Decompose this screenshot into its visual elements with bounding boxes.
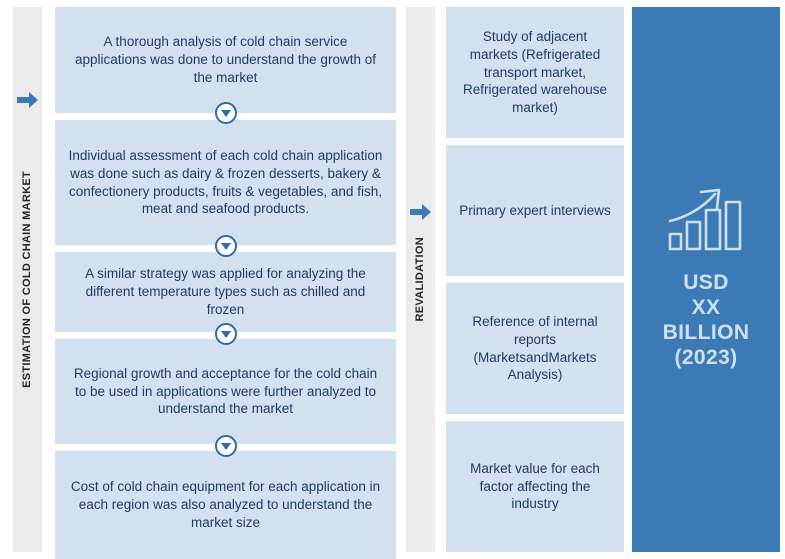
market-value-panel: USD XX BILLION (2023): [632, 7, 780, 552]
revalidation-item-text: Reference of internal reports (Marketsan…: [458, 313, 612, 384]
estimation-step-text: A similar strategy was applied for analy…: [67, 265, 384, 318]
chevron-down-icon: [215, 435, 237, 457]
estimation-step-box: Individual assessment of each cold chain…: [55, 120, 396, 245]
estimation-steps-column: A thorough analysis of cold chain servic…: [55, 7, 396, 552]
estimation-step-text: Regional growth and acceptance for the c…: [67, 365, 384, 418]
chevron-down-icon: [215, 235, 237, 257]
methodology-diagram: ESTIMATION OF COLD CHAIN MARKET A thorou…: [0, 0, 785, 559]
market-value-amount: XX: [692, 296, 721, 321]
revalidation-rail-label: REVALIDATION: [415, 237, 426, 321]
revalidation-item-box: Primary expert interviews: [446, 145, 624, 276]
revalidation-item-text: Study of adjacent markets (Refrigerated …: [458, 28, 612, 117]
market-value-currency: USD: [683, 271, 729, 296]
revalidation-item-text: Market value for each factor affecting t…: [458, 460, 612, 513]
market-value-scale: BILLION: [663, 321, 750, 346]
estimation-rail: ESTIMATION OF COLD CHAIN MARKET: [13, 7, 42, 552]
revalidation-item-box: Market value for each factor affecting t…: [446, 421, 624, 552]
estimation-step-text: A thorough analysis of cold chain servic…: [67, 33, 384, 86]
chevron-down-icon: [215, 323, 237, 345]
estimation-step-box: A thorough analysis of cold chain servic…: [55, 7, 396, 113]
market-value-year: (2023): [674, 346, 737, 371]
estimation-step-text: Individual assessment of each cold chain…: [67, 147, 384, 218]
estimation-step-text: Cost of cold chain equipment for each ap…: [67, 478, 384, 531]
arrow-right-icon: [13, 85, 42, 115]
estimation-step-box: Cost of cold chain equipment for each ap…: [55, 451, 396, 559]
revalidation-rail: REVALIDATION: [406, 7, 435, 552]
bar-chart-growth-icon: [667, 188, 745, 257]
revalidation-item-box: Reference of internal reports (Marketsan…: [446, 283, 624, 414]
revalidation-item-box: Study of adjacent markets (Refrigerated …: [446, 7, 624, 138]
arrow-right-icon: [406, 197, 435, 227]
chevron-down-icon: [215, 102, 237, 124]
revalidation-items-column: Study of adjacent markets (Refrigerated …: [446, 7, 624, 552]
estimation-rail-label: ESTIMATION OF COLD CHAIN MARKET: [22, 171, 33, 388]
revalidation-item-text: Primary expert interviews: [459, 202, 611, 220]
estimation-step-box: A similar strategy was applied for analy…: [55, 252, 396, 332]
estimation-step-box: Regional growth and acceptance for the c…: [55, 339, 396, 444]
